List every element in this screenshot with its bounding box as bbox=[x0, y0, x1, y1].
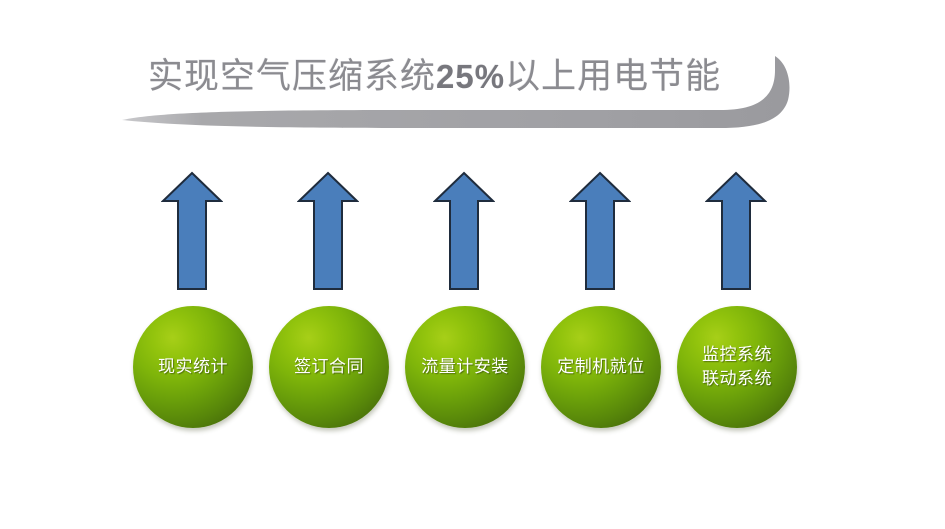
title-part-before: 实现空气压缩系统 bbox=[148, 57, 436, 97]
title-area: 实现空气压缩系统25%以上用电节能 bbox=[120, 34, 800, 144]
sphere-label-line: 监控系统 bbox=[702, 343, 772, 367]
page-title: 实现空气压缩系统25%以上用电节能 bbox=[148, 46, 768, 108]
arrow-up-2 bbox=[297, 170, 359, 292]
node-sphere-3[interactable]: 流量计安装 bbox=[405, 306, 525, 428]
arrow-up-icon bbox=[161, 170, 223, 292]
node-sphere-1[interactable]: 现实统计 bbox=[133, 306, 253, 428]
sphere-label-line: 流量计安装 bbox=[421, 355, 509, 379]
arrow-up-3 bbox=[433, 170, 495, 292]
node-sphere-5[interactable]: 监控系统联动系统 bbox=[677, 306, 797, 428]
arrow-up-icon bbox=[569, 170, 631, 292]
sphere-label: 现实统计 bbox=[133, 306, 253, 428]
title-part-after: 以上用电节能 bbox=[505, 57, 721, 97]
title-percent: 25% bbox=[436, 58, 505, 95]
arrow-up-icon bbox=[705, 170, 767, 292]
sphere-label: 定制机就位 bbox=[541, 306, 661, 428]
slide-canvas: 实现空气压缩系统25%以上用电节能 现实统计签订合同流量计安装定制机就位监控系统… bbox=[0, 0, 945, 529]
sphere-label: 签订合同 bbox=[269, 306, 389, 428]
sphere-label: 监控系统联动系统 bbox=[677, 306, 797, 428]
arrow-up-icon bbox=[433, 170, 495, 292]
sphere-label-line: 定制机就位 bbox=[557, 355, 645, 379]
arrow-up-1 bbox=[161, 170, 223, 292]
node-sphere-4[interactable]: 定制机就位 bbox=[541, 306, 661, 428]
sphere-label-line: 联动系统 bbox=[702, 367, 772, 391]
arrow-up-5 bbox=[705, 170, 767, 292]
sphere-label-line: 现实统计 bbox=[158, 355, 228, 379]
arrow-up-4 bbox=[569, 170, 631, 292]
node-sphere-2[interactable]: 签订合同 bbox=[269, 306, 389, 428]
sphere-label-line: 签订合同 bbox=[294, 355, 364, 379]
arrow-up-icon bbox=[297, 170, 359, 292]
sphere-label: 流量计安装 bbox=[405, 306, 525, 428]
